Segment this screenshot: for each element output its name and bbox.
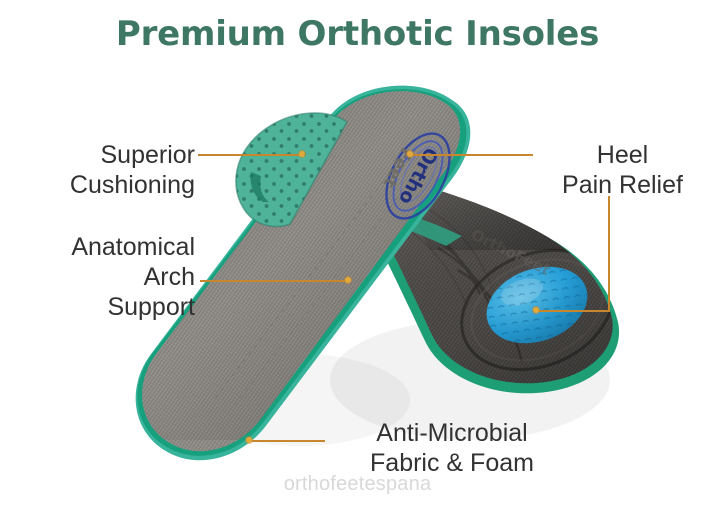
connector-line-heel-pain-relief xyxy=(410,154,533,156)
callout-label-superior-cushioning: Superior Cushioning xyxy=(20,140,195,200)
page-title: Premium Orthotic Insoles xyxy=(0,14,715,54)
connector-dot-heel-gel-pad xyxy=(533,307,539,313)
product-feature-infographic: OrthoFeet xyxy=(0,0,715,505)
connector-line-heel-gel-vertical xyxy=(608,196,610,312)
watermark: orthofeetespana xyxy=(0,473,715,496)
connector-dot-superior-cushioning xyxy=(299,151,305,157)
connector-line-anatomical-arch-support xyxy=(200,280,348,282)
connector-dot-anatomical-arch-support xyxy=(345,277,351,283)
orthofeet-logo: Ortho Feet xyxy=(368,120,462,228)
callout-label-heel-pain-relief: Heel Pain Relief xyxy=(540,140,705,200)
green-perforated-cushion xyxy=(246,114,374,215)
connector-line-anti-microbial-fabric xyxy=(249,440,325,442)
forefoot-cushion-pad xyxy=(236,113,347,227)
callout-label-anatomical-arch-support: Anatomical Arch Support xyxy=(12,232,195,322)
green-forefoot-pad xyxy=(262,96,420,196)
blue-gel-heel-pad xyxy=(476,253,598,356)
callout-label-anti-microbial-fabric-foam: Anti-Microbial Fabric & Foam xyxy=(322,418,582,478)
connector-line-superior-cushioning xyxy=(198,154,303,156)
connector-dot-heel-pain-relief xyxy=(407,151,413,157)
svg-text:OrthoFeet: OrthoFeet xyxy=(468,225,553,279)
insole-underside: OrthoFeet xyxy=(330,60,715,400)
connector-line-heel-gel-horizontal xyxy=(536,310,610,312)
connector-dot-anti-microbial-fabric xyxy=(246,437,252,443)
